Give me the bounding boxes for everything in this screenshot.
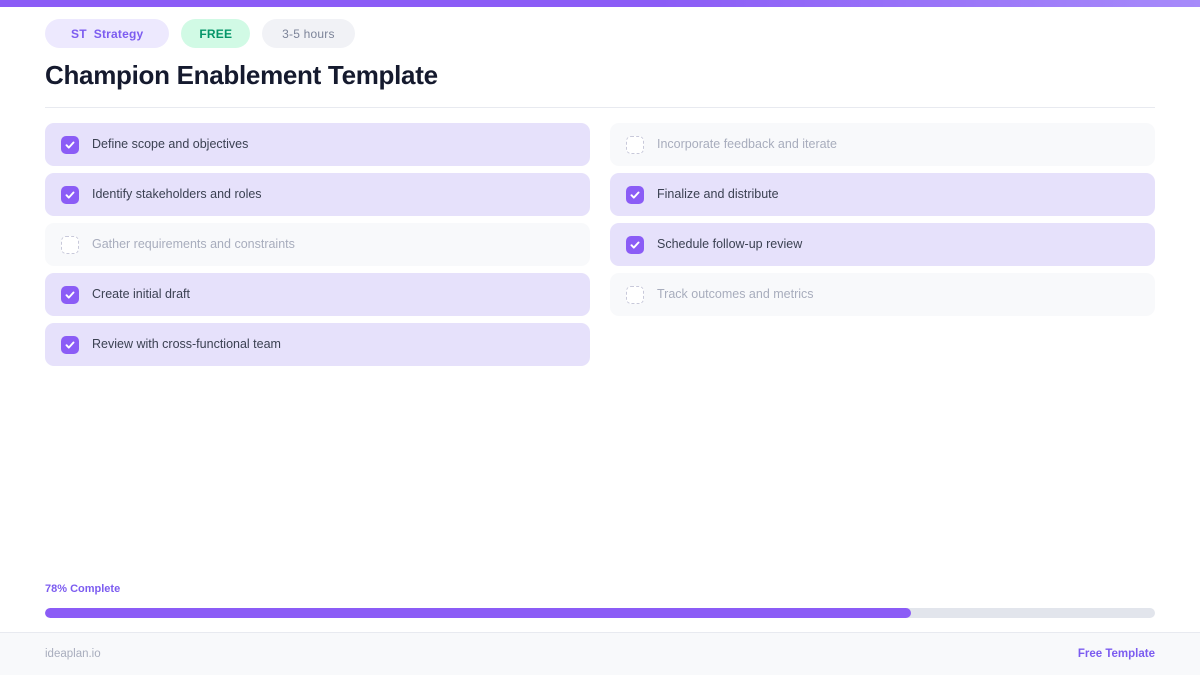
checkbox-checked-icon[interactable] xyxy=(61,286,79,304)
checklist-item[interactable]: Finalize and distribute xyxy=(610,173,1155,216)
checklist-item-label: Gather requirements and constraints xyxy=(92,238,295,251)
checkbox-checked-icon[interactable] xyxy=(61,186,79,204)
checklist-item[interactable]: Identify stakeholders and roles xyxy=(45,173,590,216)
checklist-item-label: Track outcomes and metrics xyxy=(657,288,814,301)
template-page: ST Strategy FREE 3-5 hours Champion Enab… xyxy=(0,7,1200,675)
checklist-columns: Define scope and objectivesIdentify stak… xyxy=(45,123,1155,366)
checkbox-unchecked-icon[interactable] xyxy=(61,236,79,254)
checkbox-unchecked-icon[interactable] xyxy=(626,136,644,154)
duration-badge: 3-5 hours xyxy=(262,19,355,48)
checklist-item[interactable]: Incorporate feedback and iterate xyxy=(610,123,1155,166)
footer-bar: ideaplan.io Free Template xyxy=(0,632,1200,675)
category-badge: ST Strategy xyxy=(45,19,169,48)
checklist-item[interactable]: Gather requirements and constraints xyxy=(45,223,590,266)
progress-label: 78% Complete xyxy=(45,583,1155,595)
top-accent-bar xyxy=(0,0,1200,7)
checklist-item-label: Incorporate feedback and iterate xyxy=(657,138,837,151)
price-badge: FREE xyxy=(181,19,250,48)
category-code: ST xyxy=(71,27,87,41)
checklist-item-label: Review with cross-functional team xyxy=(92,338,281,351)
progress-fill xyxy=(45,608,911,618)
checkbox-checked-icon[interactable] xyxy=(626,186,644,204)
checklist-item[interactable]: Define scope and objectives xyxy=(45,123,590,166)
checkbox-checked-icon[interactable] xyxy=(626,236,644,254)
progress-track[interactable] xyxy=(45,608,1155,618)
checklist-item[interactable]: Track outcomes and metrics xyxy=(610,273,1155,316)
checkbox-checked-icon[interactable] xyxy=(61,136,79,154)
progress-section: 78% Complete xyxy=(45,583,1155,618)
checklist-right-column: Incorporate feedback and iterateFinalize… xyxy=(610,123,1155,366)
page-title: Champion Enablement Template xyxy=(45,60,438,91)
footer-brand: ideaplan.io xyxy=(45,648,101,660)
checklist-item[interactable]: Review with cross-functional team xyxy=(45,323,590,366)
checkbox-unchecked-icon[interactable] xyxy=(626,286,644,304)
checkbox-checked-icon[interactable] xyxy=(61,336,79,354)
badge-row: ST Strategy FREE 3-5 hours xyxy=(45,19,355,48)
checklist-item-label: Identify stakeholders and roles xyxy=(92,188,262,201)
checklist-item-label: Create initial draft xyxy=(92,288,190,301)
checklist-left-column: Define scope and objectivesIdentify stak… xyxy=(45,123,590,366)
footer-cta-link[interactable]: Free Template xyxy=(1078,648,1155,660)
checklist-item-label: Define scope and objectives xyxy=(92,138,248,151)
checklist-item[interactable]: Schedule follow-up review xyxy=(610,223,1155,266)
category-label: Strategy xyxy=(94,27,144,41)
checklist-item-label: Schedule follow-up review xyxy=(657,238,802,251)
checklist-item[interactable]: Create initial draft xyxy=(45,273,590,316)
checklist-item-label: Finalize and distribute xyxy=(657,188,779,201)
header-divider xyxy=(45,107,1155,108)
